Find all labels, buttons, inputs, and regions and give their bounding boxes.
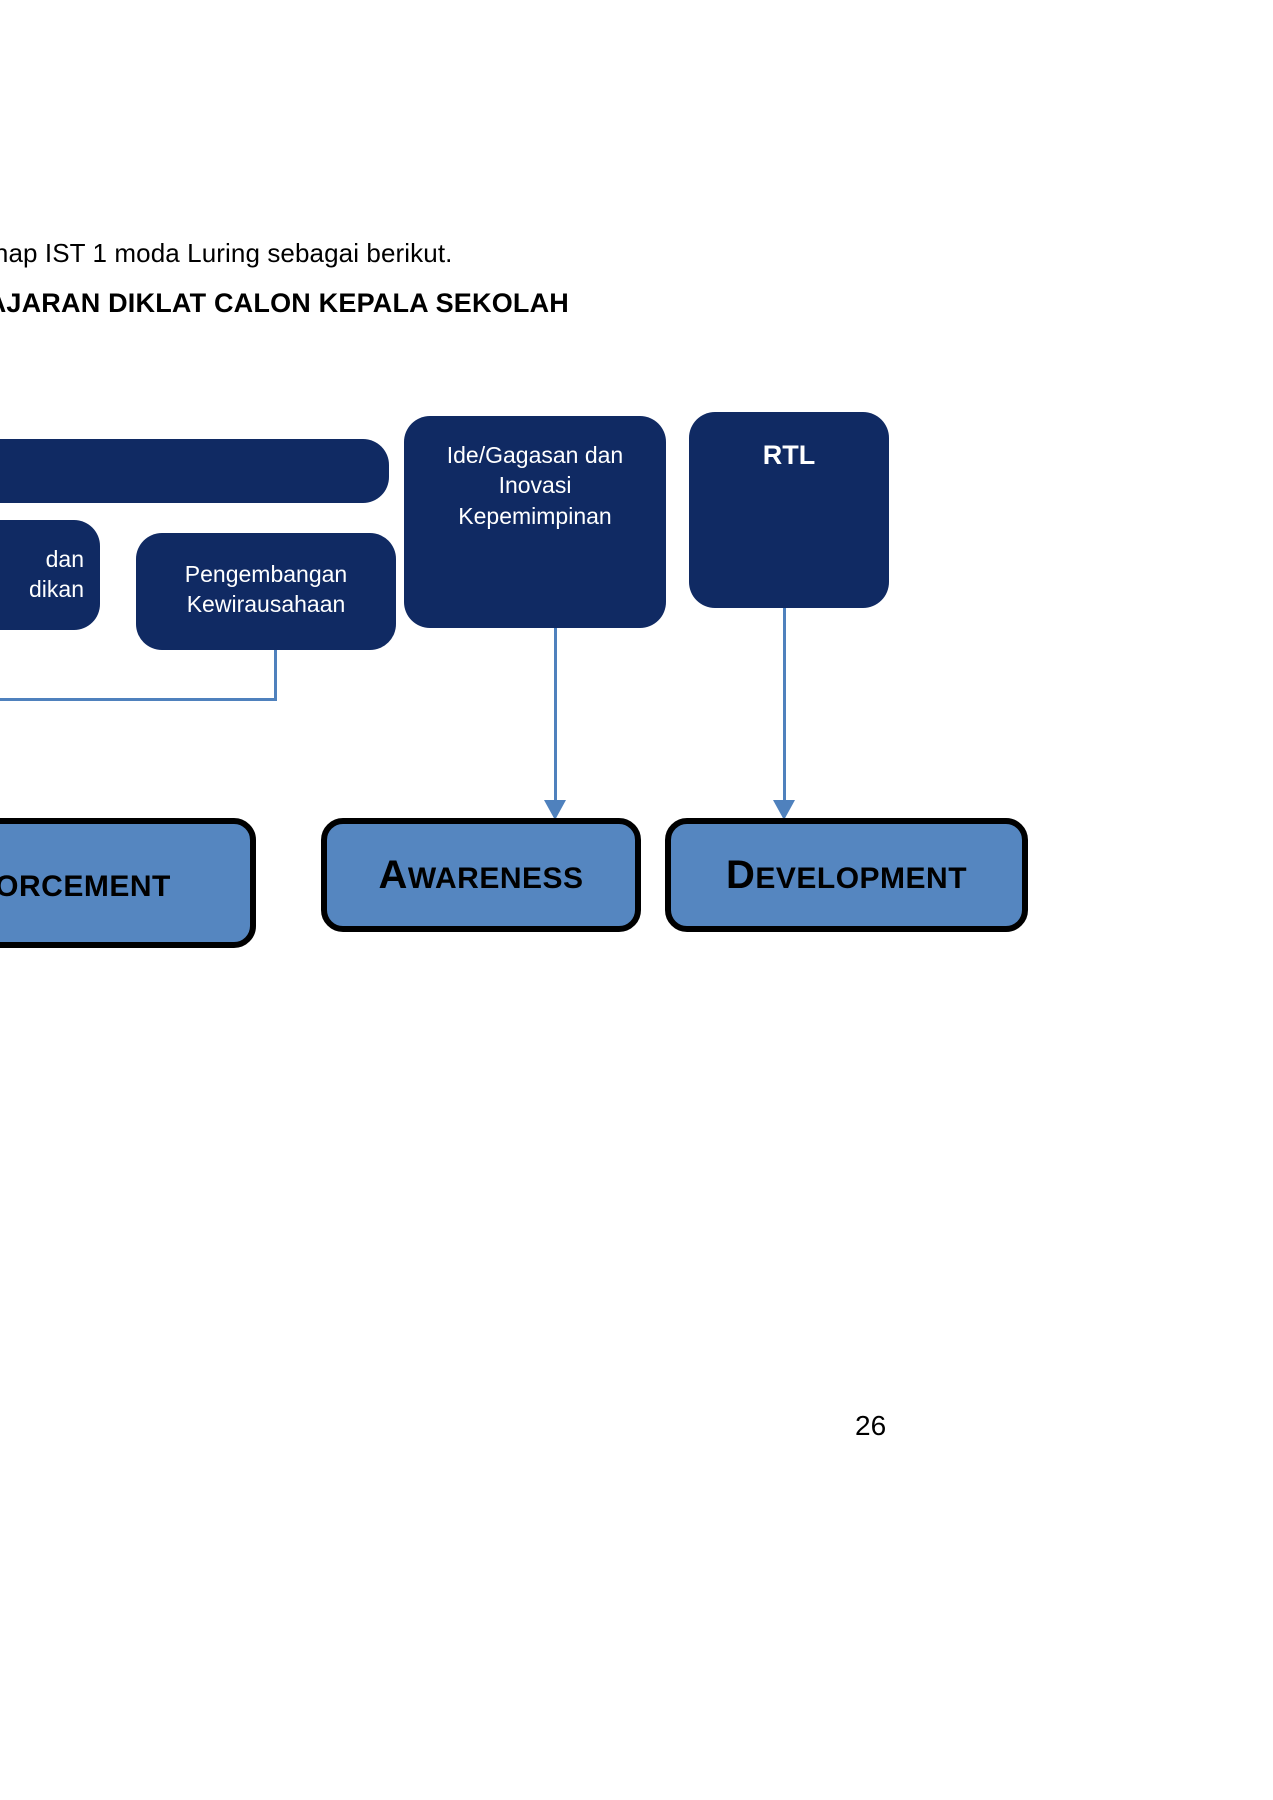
outcome-label-awareness-rest: WARENESS (408, 862, 584, 895)
diagram-node-ide-gagasan-line2: Inovasi (414, 470, 656, 500)
diagram-node-kewirausahaan: Pengembangan Kewirausahaan (136, 533, 396, 650)
diagram-node-kewirausahaan-line1: Pengembangan (146, 559, 386, 589)
diagram-node-left-partial-line1: dan (0, 544, 90, 574)
outcome-node-development: DEVELOPMENT (665, 818, 1028, 932)
diagram-node-left-partial: dan dikan (0, 520, 100, 630)
diagram-node-kewirausahaan-line2: Kewirausahaan (146, 589, 386, 619)
document-page: tahap IST 1 moda Luring sebagai berikut.… (0, 0, 1273, 1800)
outcome-label-enforcement: ORCEMENT (0, 861, 171, 906)
outcome-label-enforcement-rest: ORCEMENT (0, 870, 171, 903)
outcome-node-awareness: AWARENESS (321, 818, 641, 932)
arrow-head-awareness (544, 800, 566, 820)
flowchart-diagram: dan dikan Pengembangan Kewirausahaan Ide… (0, 390, 1273, 990)
diagram-node-rtl: RTL (689, 412, 889, 608)
outcome-node-enforcement: ORCEMENT (0, 818, 256, 948)
diagram-node-ide-gagasan-line1: Ide/Gagasan dan (414, 440, 656, 470)
arrow-head-development (773, 800, 795, 820)
diagram-node-header-bar (0, 439, 389, 503)
connector-ide-to-awareness (554, 628, 557, 808)
connector-rtl-to-development (783, 608, 786, 808)
diagram-node-rtl-label: RTL (763, 438, 815, 474)
outcome-label-development: DEVELOPMENT (726, 853, 967, 898)
outcome-label-awareness: AWARENESS (378, 853, 583, 898)
connector-horizontal-bracket (0, 698, 277, 701)
connector-kewirausahaan-down (274, 650, 277, 700)
intro-paragraph: tahap IST 1 moda Luring sebagai berikut. (0, 238, 453, 269)
page-number: 26 (855, 1410, 886, 1442)
diagram-node-ide-gagasan: Ide/Gagasan dan Inovasi Kepemimpinan (404, 416, 666, 628)
outcome-label-development-rest: EVELOPMENT (755, 862, 967, 895)
outcome-label-development-cap: D (726, 853, 755, 897)
diagram-node-ide-gagasan-line3: Kepemimpinan (414, 501, 656, 531)
diagram-node-left-partial-line2: dikan (0, 574, 90, 604)
page-title: LAJARAN DIKLAT CALON KEPALA SEKOLAH (0, 288, 569, 319)
outcome-label-awareness-cap: A (378, 853, 407, 897)
